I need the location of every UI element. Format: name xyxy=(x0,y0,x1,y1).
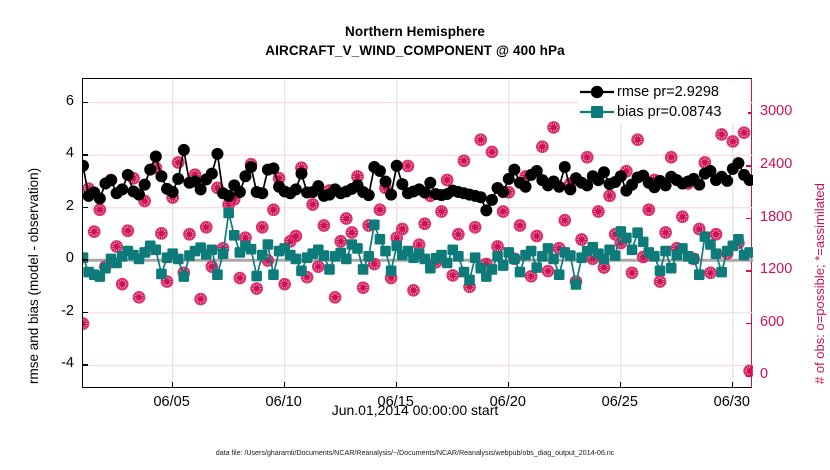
series-point-rmse xyxy=(721,175,733,187)
series-point-bias xyxy=(688,254,699,265)
plot-area xyxy=(82,78,752,388)
series-point-bias xyxy=(83,252,88,263)
series-point-rmse xyxy=(267,162,279,174)
series-point-rmse xyxy=(150,151,162,163)
series-point-rmse xyxy=(553,181,565,193)
series-point-bias xyxy=(694,269,705,280)
series-point-rmse xyxy=(497,186,509,198)
series-point-rmse xyxy=(732,157,744,169)
x-axis-label: Jun.01,2014 00:00:00 start xyxy=(0,402,830,418)
series-point-bias xyxy=(599,254,610,265)
series-point-bias xyxy=(419,254,430,265)
y-tick-mark-right xyxy=(746,218,752,220)
series-point-bias xyxy=(229,230,240,241)
series-point-bias xyxy=(251,271,262,282)
series-point-bias xyxy=(453,251,464,262)
y-tick-mark-left xyxy=(82,259,88,261)
y-tick-left: 0 xyxy=(40,250,74,266)
series-point-rmse xyxy=(172,173,184,185)
y-tick-mark-left xyxy=(82,364,88,366)
y-tick-right: 0 xyxy=(760,366,808,382)
series-point-bias xyxy=(319,250,330,261)
series-point-bias xyxy=(291,254,302,265)
x-tick-mark xyxy=(284,382,286,388)
series-point-bias xyxy=(531,262,542,273)
series-point-rmse xyxy=(105,174,117,186)
series-point-rmse xyxy=(94,193,106,205)
series-point-bias xyxy=(100,263,111,274)
legend-label: bias pr=0.08743 xyxy=(617,104,721,120)
series-point-rmse xyxy=(245,161,257,173)
y-tick-right: 3000 xyxy=(760,103,808,119)
chart-figure: Northern Hemisphere AIRCRAFT_V_WIND_COMP… xyxy=(0,0,830,470)
series-point-bias xyxy=(223,208,234,219)
series-point-bias xyxy=(375,234,386,245)
y-tick-mark-right xyxy=(746,270,752,272)
series-point-rmse xyxy=(520,181,532,193)
series-point-rmse xyxy=(380,175,392,187)
series-point-bias xyxy=(632,227,643,238)
series-point-bias xyxy=(212,269,223,280)
y-tick-right: 600 xyxy=(760,314,808,330)
series-point-rmse xyxy=(234,186,246,198)
x-tick-mark xyxy=(732,382,734,388)
series-point-rmse xyxy=(211,148,223,160)
series-point-bias xyxy=(666,263,677,274)
y-tick-left: -2 xyxy=(40,303,74,319)
series-point-bias xyxy=(526,246,537,257)
legend-bias[interactable]: bias pr=0.08743 xyxy=(578,102,748,122)
series-point-bias xyxy=(156,269,167,280)
series-point-bias xyxy=(296,265,307,276)
y-tick-right: 1200 xyxy=(760,261,808,277)
y-tick-mark-left xyxy=(82,207,88,209)
series-point-rmse xyxy=(167,186,179,198)
series-point-bias xyxy=(554,269,565,280)
y-tick-left: 6 xyxy=(40,93,74,109)
series-point-bias xyxy=(649,251,660,262)
series-point-bias xyxy=(744,247,753,258)
series-point-rmse xyxy=(223,190,235,202)
series-point-rmse xyxy=(122,169,134,181)
series-point-bias xyxy=(218,248,229,259)
series-point-bias xyxy=(548,254,559,265)
series-point-bias xyxy=(470,252,481,263)
series-point-bias xyxy=(655,265,666,276)
x-tick-mark xyxy=(620,382,622,388)
series-point-rmse xyxy=(508,164,520,176)
series-point-bias xyxy=(487,264,498,275)
series-point-rmse xyxy=(295,168,307,180)
series-point-bias xyxy=(179,271,190,282)
series-point-bias xyxy=(268,269,279,280)
series-point-rmse xyxy=(693,179,705,191)
series-point-rmse xyxy=(290,183,302,195)
y-tick-mark-left xyxy=(82,102,88,104)
series-point-rmse xyxy=(486,194,498,206)
y-tick-right: 2400 xyxy=(760,156,808,172)
series-point-bias xyxy=(151,244,162,255)
series-point-bias xyxy=(425,263,436,274)
series-bias xyxy=(83,208,753,290)
series-point-bias xyxy=(638,237,649,248)
series-point-rmse xyxy=(615,170,627,182)
series-point-rmse xyxy=(256,187,268,199)
legend-symbol-square xyxy=(578,103,616,121)
y-axis-left-label: rmse and bias (model - observation) xyxy=(26,168,41,384)
series-point-rmse xyxy=(83,160,89,172)
series-point-bias xyxy=(660,246,671,257)
series-point-bias xyxy=(492,251,503,262)
series-point-bias xyxy=(207,244,218,255)
series-point-bias xyxy=(246,244,257,255)
y-tick-mark-left xyxy=(82,154,88,156)
series-point-bias xyxy=(733,234,744,245)
y-axis-right-label: # of obs: o=possible; *=assimilated xyxy=(812,183,827,384)
series-point-rmse xyxy=(374,165,386,177)
series-point-rmse xyxy=(116,183,128,195)
series-point-bias xyxy=(442,258,453,269)
chart-title-line1: Northern Hemisphere xyxy=(0,22,830,41)
series-point-rmse xyxy=(475,191,487,203)
series-point-rmse xyxy=(144,164,156,176)
y-tick-mark-right xyxy=(746,323,752,325)
x-tick-mark xyxy=(396,382,398,388)
series-point-bias xyxy=(705,239,716,250)
series-point-bias xyxy=(380,246,391,257)
series-point-rmse xyxy=(155,170,167,182)
series-point-bias xyxy=(341,254,352,265)
series-point-bias xyxy=(571,279,582,290)
series-point-bias xyxy=(716,267,727,278)
y-tick-left: 4 xyxy=(40,145,74,161)
series-point-bias xyxy=(257,250,268,261)
series-point-bias xyxy=(565,250,576,261)
series-point-rmse xyxy=(385,189,397,201)
series-point-rmse xyxy=(559,161,571,173)
series-point-bias xyxy=(173,254,184,265)
series-point-bias xyxy=(363,251,374,262)
series-point-bias xyxy=(358,264,369,275)
y-tick-mark-right xyxy=(746,165,752,167)
data-file-caption: data file: /Users/gharamti/Documents/NCA… xyxy=(0,448,830,457)
chart-legend[interactable]: rmse pr=2.9298bias pr=0.08743 xyxy=(578,81,748,124)
series-point-rmse xyxy=(424,177,436,189)
series-point-bias xyxy=(711,248,722,259)
series-point-bias xyxy=(369,220,380,231)
series-point-bias xyxy=(627,244,638,255)
series-point-bias xyxy=(263,239,274,250)
series-point-bias xyxy=(391,241,402,252)
y-tick-mark-right xyxy=(746,375,752,377)
series-point-rmse xyxy=(178,144,190,156)
legend-label: rmse pr=2.9298 xyxy=(617,84,719,100)
series-point-bias xyxy=(543,243,554,254)
series-point-bias xyxy=(352,243,363,254)
series-point-bias xyxy=(324,264,335,275)
y-tick-right: 1800 xyxy=(760,209,808,225)
plot-canvas xyxy=(83,79,753,389)
series-point-bias xyxy=(509,254,520,265)
legend-rmse[interactable]: rmse pr=2.9298 xyxy=(578,82,748,102)
x-tick-mark xyxy=(508,382,510,388)
series-point-rmse xyxy=(480,204,492,216)
series-point-bias xyxy=(464,275,475,286)
y-tick-left: 2 xyxy=(40,198,74,214)
legend-symbol-circle xyxy=(578,83,616,101)
series-point-bias xyxy=(386,265,397,276)
series-point-rmse xyxy=(363,189,375,201)
y-tick-left: -4 xyxy=(40,355,74,371)
chart-title: Northern Hemisphere AIRCRAFT_V_WIND_COMP… xyxy=(0,22,830,60)
series-point-rmse xyxy=(564,183,576,195)
x-tick-mark xyxy=(172,382,174,388)
y-tick-mark-left xyxy=(82,312,88,314)
chart-title-line2: AIRCRAFT_V_WIND_COMPONENT @ 400 hPa xyxy=(0,41,830,60)
series-point-bias xyxy=(498,260,509,271)
series-point-bias xyxy=(610,250,621,261)
series-point-bias xyxy=(515,267,526,278)
series-point-rmse xyxy=(598,166,610,178)
series-point-bias xyxy=(621,233,632,244)
series-point-rmse xyxy=(391,160,403,172)
series-point-rmse xyxy=(206,168,218,180)
series-point-rmse xyxy=(139,179,151,191)
